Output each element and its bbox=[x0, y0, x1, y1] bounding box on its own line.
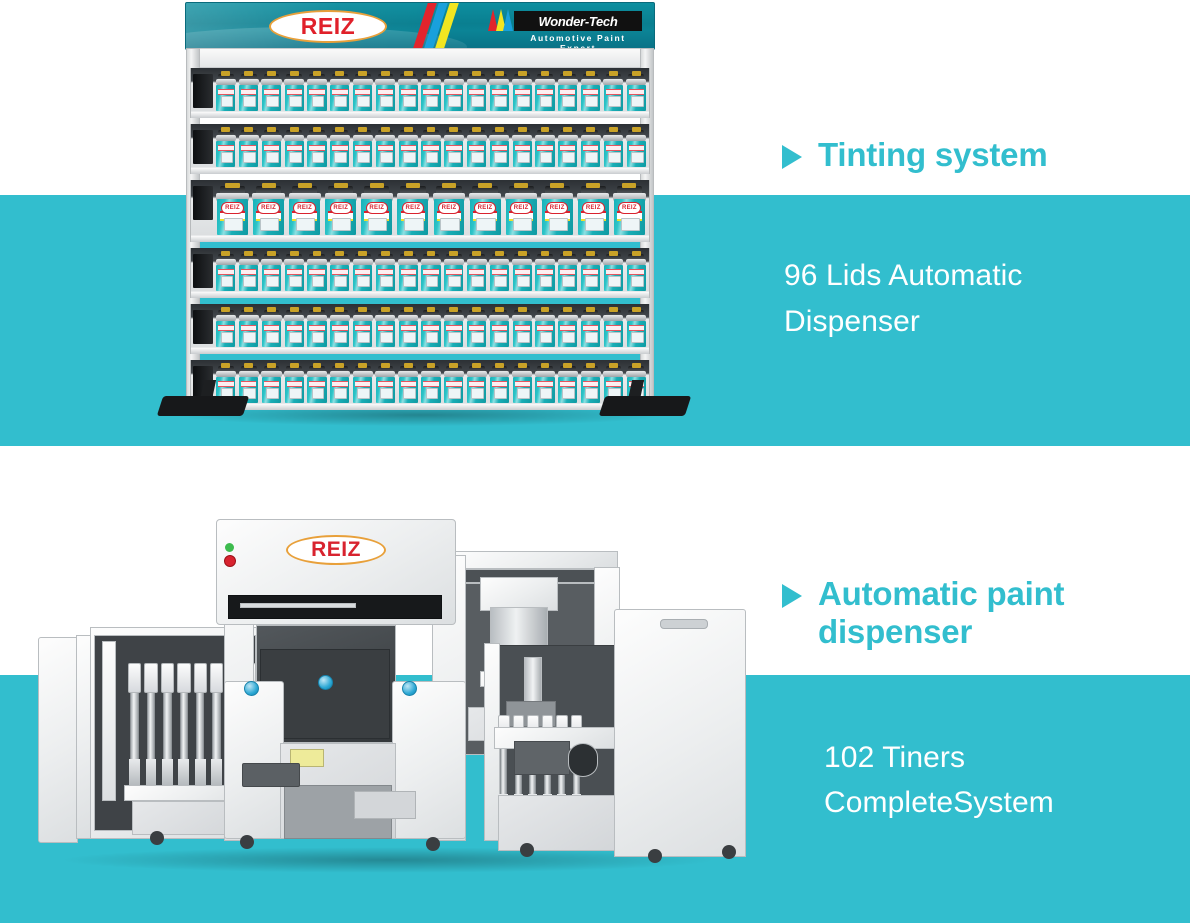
right-cabinet-base bbox=[498, 795, 628, 851]
canister-body bbox=[467, 85, 486, 111]
paint-canister bbox=[625, 310, 647, 347]
paint-canister bbox=[329, 74, 351, 111]
paint-canister bbox=[466, 310, 488, 347]
canister-brand-label: REIZ bbox=[438, 202, 460, 214]
paint-canister bbox=[329, 366, 351, 403]
paint-canister bbox=[397, 310, 419, 347]
paint-canister bbox=[283, 130, 305, 167]
paint-canister bbox=[466, 130, 488, 167]
paint-canister bbox=[261, 130, 283, 167]
canister-body bbox=[581, 265, 600, 291]
paint-canister bbox=[283, 254, 305, 291]
canister-body bbox=[444, 321, 463, 347]
canister-body bbox=[467, 377, 486, 403]
canister-body bbox=[421, 265, 440, 291]
canister-body bbox=[467, 265, 486, 291]
canister-body bbox=[467, 321, 486, 347]
door-latch-knob-left[interactable] bbox=[244, 681, 259, 696]
left-cabinet-gantry bbox=[102, 641, 116, 801]
canister-body bbox=[444, 265, 463, 291]
canister-body bbox=[421, 141, 440, 167]
canister-body bbox=[467, 141, 486, 167]
feature-1-subtitle: 96 Lids Automatic Dispenser bbox=[784, 253, 1047, 344]
canister-body bbox=[376, 141, 395, 167]
tinting-system-machine-image: REIZ Wonder-Tech Automotive Paint Expert… bbox=[150, 0, 690, 440]
play-triangle-icon bbox=[782, 584, 802, 608]
canister-body bbox=[330, 85, 349, 111]
paint-canister bbox=[557, 130, 579, 167]
paint-canister: REIZ bbox=[323, 186, 358, 235]
paint-canister bbox=[511, 254, 533, 291]
canister-body bbox=[353, 85, 372, 111]
canister-body bbox=[239, 85, 258, 111]
caster-foot bbox=[150, 831, 164, 845]
paint-canister bbox=[238, 254, 260, 291]
canister-body bbox=[627, 265, 646, 291]
paint-canister bbox=[534, 74, 556, 111]
paint-canister bbox=[215, 310, 237, 347]
canister-brand-label: REIZ bbox=[221, 202, 243, 214]
canister-body bbox=[330, 141, 349, 167]
paint-canister: REIZ bbox=[287, 186, 322, 235]
paint-canister bbox=[329, 310, 351, 347]
paint-canister bbox=[306, 74, 328, 111]
shelf-row bbox=[190, 360, 650, 410]
feature-1-subtitle-line-1: 96 Lids Automatic bbox=[784, 253, 1047, 299]
feature-1-heading: Tinting system bbox=[818, 136, 1047, 174]
canister-brand-label: REIZ bbox=[366, 202, 388, 214]
paint-canister bbox=[511, 74, 533, 111]
reiz-logo-badge: REIZ bbox=[269, 10, 387, 43]
shelf-motor bbox=[193, 310, 213, 344]
paint-canister bbox=[603, 130, 625, 167]
paint-canister bbox=[625, 254, 647, 291]
canister-body bbox=[216, 321, 235, 347]
canister-body bbox=[604, 141, 623, 167]
canister-body bbox=[490, 321, 509, 347]
canister-tube bbox=[196, 693, 205, 759]
paint-canister bbox=[283, 366, 305, 403]
canister-body bbox=[399, 85, 418, 111]
paint-canister: REIZ bbox=[431, 186, 466, 235]
canister-body bbox=[216, 85, 235, 111]
canister-body bbox=[330, 321, 349, 347]
paint-canister bbox=[489, 366, 511, 403]
shelf-deck bbox=[191, 403, 649, 410]
canister-body bbox=[285, 321, 304, 347]
canister-body bbox=[513, 265, 532, 291]
can-row bbox=[215, 310, 647, 347]
feature-2-heading-line-1: Automatic paint bbox=[818, 575, 1064, 613]
canister-brand-label: REIZ bbox=[293, 202, 315, 214]
shelf-deck bbox=[191, 167, 649, 174]
canister-body bbox=[513, 85, 532, 111]
canister-body bbox=[421, 377, 440, 403]
paint-canister bbox=[580, 130, 602, 167]
paint-canister bbox=[443, 310, 465, 347]
reiz-logo-text-2: REIZ bbox=[311, 538, 361, 562]
paint-canister bbox=[557, 74, 579, 111]
canister-tube bbox=[180, 693, 189, 759]
canister-body bbox=[604, 265, 623, 291]
paint-canister bbox=[511, 366, 533, 403]
feature-2-subtitle: 102 Tiners CompleteSystem bbox=[824, 735, 1064, 826]
shelf-deck bbox=[191, 291, 649, 298]
paint-canister bbox=[352, 310, 374, 347]
canister-body bbox=[421, 85, 440, 111]
play-triangle-icon bbox=[782, 145, 802, 169]
shelf-row bbox=[190, 68, 650, 118]
canister-body bbox=[490, 265, 509, 291]
paint-canister: REIZ bbox=[576, 186, 611, 235]
can-row bbox=[215, 254, 647, 291]
feature-2-heading-row: Automatic paint dispenser bbox=[782, 575, 1064, 651]
emergency-stop-button[interactable] bbox=[224, 555, 236, 567]
feature-2-subtitle-line-2: CompleteSystem bbox=[824, 780, 1064, 826]
canister-body bbox=[535, 321, 554, 347]
canister-body bbox=[399, 321, 418, 347]
canister-brand-label: REIZ bbox=[330, 202, 352, 214]
canister-body bbox=[490, 377, 509, 403]
canister-body bbox=[421, 321, 440, 347]
paint-canister bbox=[443, 130, 465, 167]
canister-body bbox=[581, 377, 600, 403]
paint-canister bbox=[261, 366, 283, 403]
paint-canister bbox=[261, 310, 283, 347]
canister-body bbox=[558, 265, 577, 291]
paint-canister bbox=[215, 254, 237, 291]
canister-brand-label: REIZ bbox=[582, 202, 604, 214]
paint-canister bbox=[466, 74, 488, 111]
paint-canister bbox=[238, 130, 260, 167]
dispenser-canister bbox=[128, 663, 141, 789]
canister-body bbox=[399, 141, 418, 167]
paint-canister bbox=[511, 310, 533, 347]
paint-canister bbox=[238, 310, 260, 347]
canister-body bbox=[627, 141, 646, 167]
canister-brand-label: REIZ bbox=[546, 202, 568, 214]
canister-tube bbox=[130, 693, 139, 759]
paint-canister bbox=[375, 310, 397, 347]
caster-foot bbox=[240, 835, 254, 849]
dispenser-canister bbox=[194, 663, 207, 789]
canister-body bbox=[627, 85, 646, 111]
wonder-tech-logo: Wonder-Tech Automotive Paint Expert bbox=[486, 9, 646, 47]
canister-body bbox=[307, 141, 326, 167]
canister-body bbox=[558, 141, 577, 167]
paint-canister bbox=[420, 74, 442, 111]
canister-body bbox=[513, 141, 532, 167]
shelf-row: REIZREIZREIZREIZREIZREIZREIZREIZREIZREIZ… bbox=[190, 180, 650, 242]
paint-canister: REIZ bbox=[468, 186, 503, 235]
paint-canister bbox=[489, 130, 511, 167]
paint-canister bbox=[511, 130, 533, 167]
canister-brand-label: REIZ bbox=[257, 202, 279, 214]
canister-head bbox=[128, 663, 141, 693]
canister-body bbox=[581, 141, 600, 167]
paint-canister bbox=[443, 74, 465, 111]
front-shelf bbox=[354, 791, 416, 819]
paint-canister bbox=[215, 130, 237, 167]
canister-body bbox=[604, 85, 623, 111]
canister-body bbox=[216, 141, 235, 167]
canister-body bbox=[353, 377, 372, 403]
canister-body bbox=[330, 377, 349, 403]
paint-canister bbox=[329, 130, 351, 167]
canister-body bbox=[353, 141, 372, 167]
paint-canister bbox=[580, 366, 602, 403]
paint-canister bbox=[580, 74, 602, 111]
canister-body bbox=[307, 321, 326, 347]
overhead-bridge-top bbox=[448, 551, 618, 569]
paint-canister: REIZ bbox=[359, 186, 394, 235]
front-output-tray[interactable] bbox=[242, 763, 300, 787]
wonder-tech-label: Wonder-Tech bbox=[538, 14, 617, 29]
canister-body bbox=[262, 377, 281, 403]
paint-canister bbox=[603, 310, 625, 347]
paint-canister: REIZ bbox=[251, 186, 286, 235]
tower-door-left[interactable] bbox=[224, 681, 284, 839]
canister-brand-label: REIZ bbox=[510, 202, 532, 214]
paint-canister bbox=[625, 130, 647, 167]
dispenser-canister bbox=[144, 663, 157, 789]
paint-canister bbox=[215, 74, 237, 111]
canister-tube bbox=[212, 693, 221, 759]
paint-canister bbox=[466, 254, 488, 291]
right-cabinet-front-door[interactable] bbox=[614, 609, 746, 857]
dispense-arm-head bbox=[480, 577, 558, 611]
dispenser-canister bbox=[161, 663, 174, 789]
paint-canister bbox=[534, 310, 556, 347]
paint-canister bbox=[534, 130, 556, 167]
canister-head bbox=[144, 663, 157, 693]
canister-tube bbox=[163, 693, 172, 759]
paint-canister bbox=[420, 254, 442, 291]
paint-canister: REIZ bbox=[612, 186, 647, 235]
paint-canister bbox=[306, 310, 328, 347]
paint-canister bbox=[352, 366, 374, 403]
paint-canister bbox=[466, 366, 488, 403]
shelf-row bbox=[190, 248, 650, 298]
canister-body bbox=[535, 377, 554, 403]
paint-canister: REIZ bbox=[540, 186, 575, 235]
canister-body bbox=[535, 141, 554, 167]
canister-body bbox=[535, 85, 554, 111]
canister-body bbox=[239, 265, 258, 291]
paint-canister bbox=[283, 74, 305, 111]
shelf-row bbox=[190, 124, 650, 174]
paint-canister bbox=[306, 366, 328, 403]
canister-brand-label: REIZ bbox=[474, 202, 496, 214]
canister-body bbox=[239, 141, 258, 167]
feature-block-tinting-system: Tinting system 96 Lids Automatic Dispens… bbox=[782, 136, 1047, 344]
canister-body bbox=[307, 85, 326, 111]
canister-body bbox=[535, 265, 554, 291]
paint-canister bbox=[375, 366, 397, 403]
canister-body bbox=[604, 321, 623, 347]
caster-foot bbox=[520, 843, 534, 857]
canister-body bbox=[285, 265, 304, 291]
paint-canister bbox=[352, 74, 374, 111]
canister-body bbox=[513, 321, 532, 347]
canister-body bbox=[353, 321, 372, 347]
canister-body bbox=[376, 321, 395, 347]
paint-canister bbox=[397, 74, 419, 111]
caster-foot bbox=[426, 837, 440, 851]
automatic-paint-dispenser-image: REIZ bbox=[28, 495, 768, 885]
canister-body bbox=[307, 377, 326, 403]
canister-head bbox=[161, 663, 174, 693]
dispenser-canister bbox=[177, 663, 190, 789]
canister-brand-label: REIZ bbox=[402, 202, 424, 214]
right-cabinet-mechanism bbox=[514, 741, 570, 775]
canister-tube bbox=[147, 693, 156, 759]
canister-body bbox=[376, 265, 395, 291]
paint-canister bbox=[329, 254, 351, 291]
canister-body bbox=[558, 321, 577, 347]
can-row bbox=[215, 74, 647, 111]
feature-2-heading: Automatic paint dispenser bbox=[818, 575, 1064, 651]
shelf-row bbox=[190, 304, 650, 354]
paint-canister bbox=[397, 130, 419, 167]
paint-canister bbox=[603, 74, 625, 111]
wonder-tech-mark-icon bbox=[488, 9, 514, 32]
paint-canister bbox=[557, 310, 579, 347]
shelf-deck bbox=[191, 347, 649, 354]
canister-body bbox=[262, 85, 281, 111]
shelf-motor bbox=[193, 186, 213, 220]
canister-body bbox=[285, 85, 304, 111]
tower-head-slot-insert bbox=[240, 603, 356, 608]
canister-body bbox=[490, 141, 509, 167]
paint-canister bbox=[261, 254, 283, 291]
paint-canister bbox=[603, 254, 625, 291]
paint-canister bbox=[420, 366, 442, 403]
dispenser-canister bbox=[210, 663, 223, 789]
can-row: REIZREIZREIZREIZREIZREIZREIZREIZREIZREIZ… bbox=[215, 186, 647, 235]
shelf-motor bbox=[193, 254, 213, 288]
paint-canister bbox=[261, 74, 283, 111]
canister-body bbox=[627, 321, 646, 347]
paint-canister bbox=[352, 254, 374, 291]
canister-body bbox=[558, 85, 577, 111]
paint-canister: REIZ bbox=[215, 186, 250, 235]
caster-foot bbox=[648, 849, 662, 863]
machine-1-signboard: REIZ Wonder-Tech Automotive Paint Expert bbox=[185, 2, 655, 50]
canister-body bbox=[216, 265, 235, 291]
paint-canister bbox=[306, 254, 328, 291]
paint-canister bbox=[306, 130, 328, 167]
paint-canister bbox=[557, 254, 579, 291]
canister-body bbox=[490, 85, 509, 111]
canister-body bbox=[444, 141, 463, 167]
shelf-motor bbox=[193, 74, 213, 108]
paint-canister bbox=[580, 254, 602, 291]
canister-head bbox=[210, 663, 223, 693]
canister-body bbox=[376, 85, 395, 111]
paint-canister bbox=[397, 254, 419, 291]
shelf-deck bbox=[191, 235, 649, 242]
color-stripes-icon bbox=[418, 3, 478, 50]
shelf-deck bbox=[191, 111, 649, 118]
paint-canister bbox=[375, 74, 397, 111]
canister-body bbox=[262, 321, 281, 347]
paint-canister bbox=[420, 310, 442, 347]
shelf-motor bbox=[193, 130, 213, 164]
paint-canister bbox=[375, 130, 397, 167]
rack-top-rail bbox=[186, 48, 654, 68]
paint-canister bbox=[557, 366, 579, 403]
paint-canister bbox=[397, 366, 419, 403]
canister-body bbox=[399, 377, 418, 403]
door-latch-knob-right[interactable] bbox=[402, 681, 417, 696]
paint-canister bbox=[580, 310, 602, 347]
canister-body bbox=[307, 265, 326, 291]
canister-body bbox=[285, 141, 304, 167]
paint-canister bbox=[238, 74, 260, 111]
paint-canister: REIZ bbox=[504, 186, 539, 235]
canister-head bbox=[194, 663, 207, 693]
right-cabinet-wheel bbox=[568, 743, 598, 777]
canister-body bbox=[262, 141, 281, 167]
left-cabinet-shell bbox=[38, 637, 78, 843]
rack-foot-left bbox=[157, 396, 249, 416]
feature-1-subtitle-line-2: Dispenser bbox=[784, 299, 1047, 345]
canister-body bbox=[444, 85, 463, 111]
canister-body bbox=[330, 265, 349, 291]
can-row bbox=[215, 130, 647, 167]
paint-canister bbox=[443, 254, 465, 291]
paint-canister bbox=[443, 366, 465, 403]
canister-body bbox=[399, 265, 418, 291]
feature-1-heading-row: Tinting system bbox=[782, 136, 1047, 174]
feature-2-subtitle-line-1: 102 Tiners bbox=[824, 735, 1064, 781]
feature-2-heading-line-2: dispenser bbox=[818, 613, 1064, 651]
paint-canister bbox=[352, 130, 374, 167]
can-row bbox=[215, 366, 647, 403]
canister-body bbox=[239, 321, 258, 347]
paint-canister bbox=[534, 254, 556, 291]
canister-body bbox=[513, 377, 532, 403]
canister-body bbox=[262, 265, 281, 291]
canister-body bbox=[353, 265, 372, 291]
canister-body bbox=[285, 377, 304, 403]
canister-body bbox=[581, 85, 600, 111]
feature-block-automatic-paint-dispenser: Automatic paint dispenser 102 Tiners Com… bbox=[782, 575, 1064, 826]
caster-foot bbox=[722, 845, 736, 859]
paint-canister bbox=[489, 74, 511, 111]
paint-canister bbox=[375, 254, 397, 291]
reiz-logo-badge-machine-2: REIZ bbox=[286, 535, 386, 565]
rack-foot-right bbox=[599, 396, 691, 416]
canister-body bbox=[558, 377, 577, 403]
wonder-tech-name-bar: Wonder-Tech bbox=[514, 11, 642, 31]
paint-canister bbox=[283, 310, 305, 347]
canister-body bbox=[444, 377, 463, 403]
canister-body bbox=[376, 377, 395, 403]
paint-canister bbox=[489, 254, 511, 291]
paint-canister bbox=[625, 74, 647, 111]
paint-canister: REIZ bbox=[395, 186, 430, 235]
right-cabinet-handle[interactable] bbox=[660, 619, 708, 629]
paint-canister bbox=[420, 130, 442, 167]
canister-brand-label: REIZ bbox=[618, 202, 640, 214]
canister-head bbox=[177, 663, 190, 693]
door-latch-knob-center[interactable] bbox=[318, 675, 333, 690]
paint-canister bbox=[534, 366, 556, 403]
canister-body bbox=[581, 321, 600, 347]
paint-canister bbox=[489, 310, 511, 347]
